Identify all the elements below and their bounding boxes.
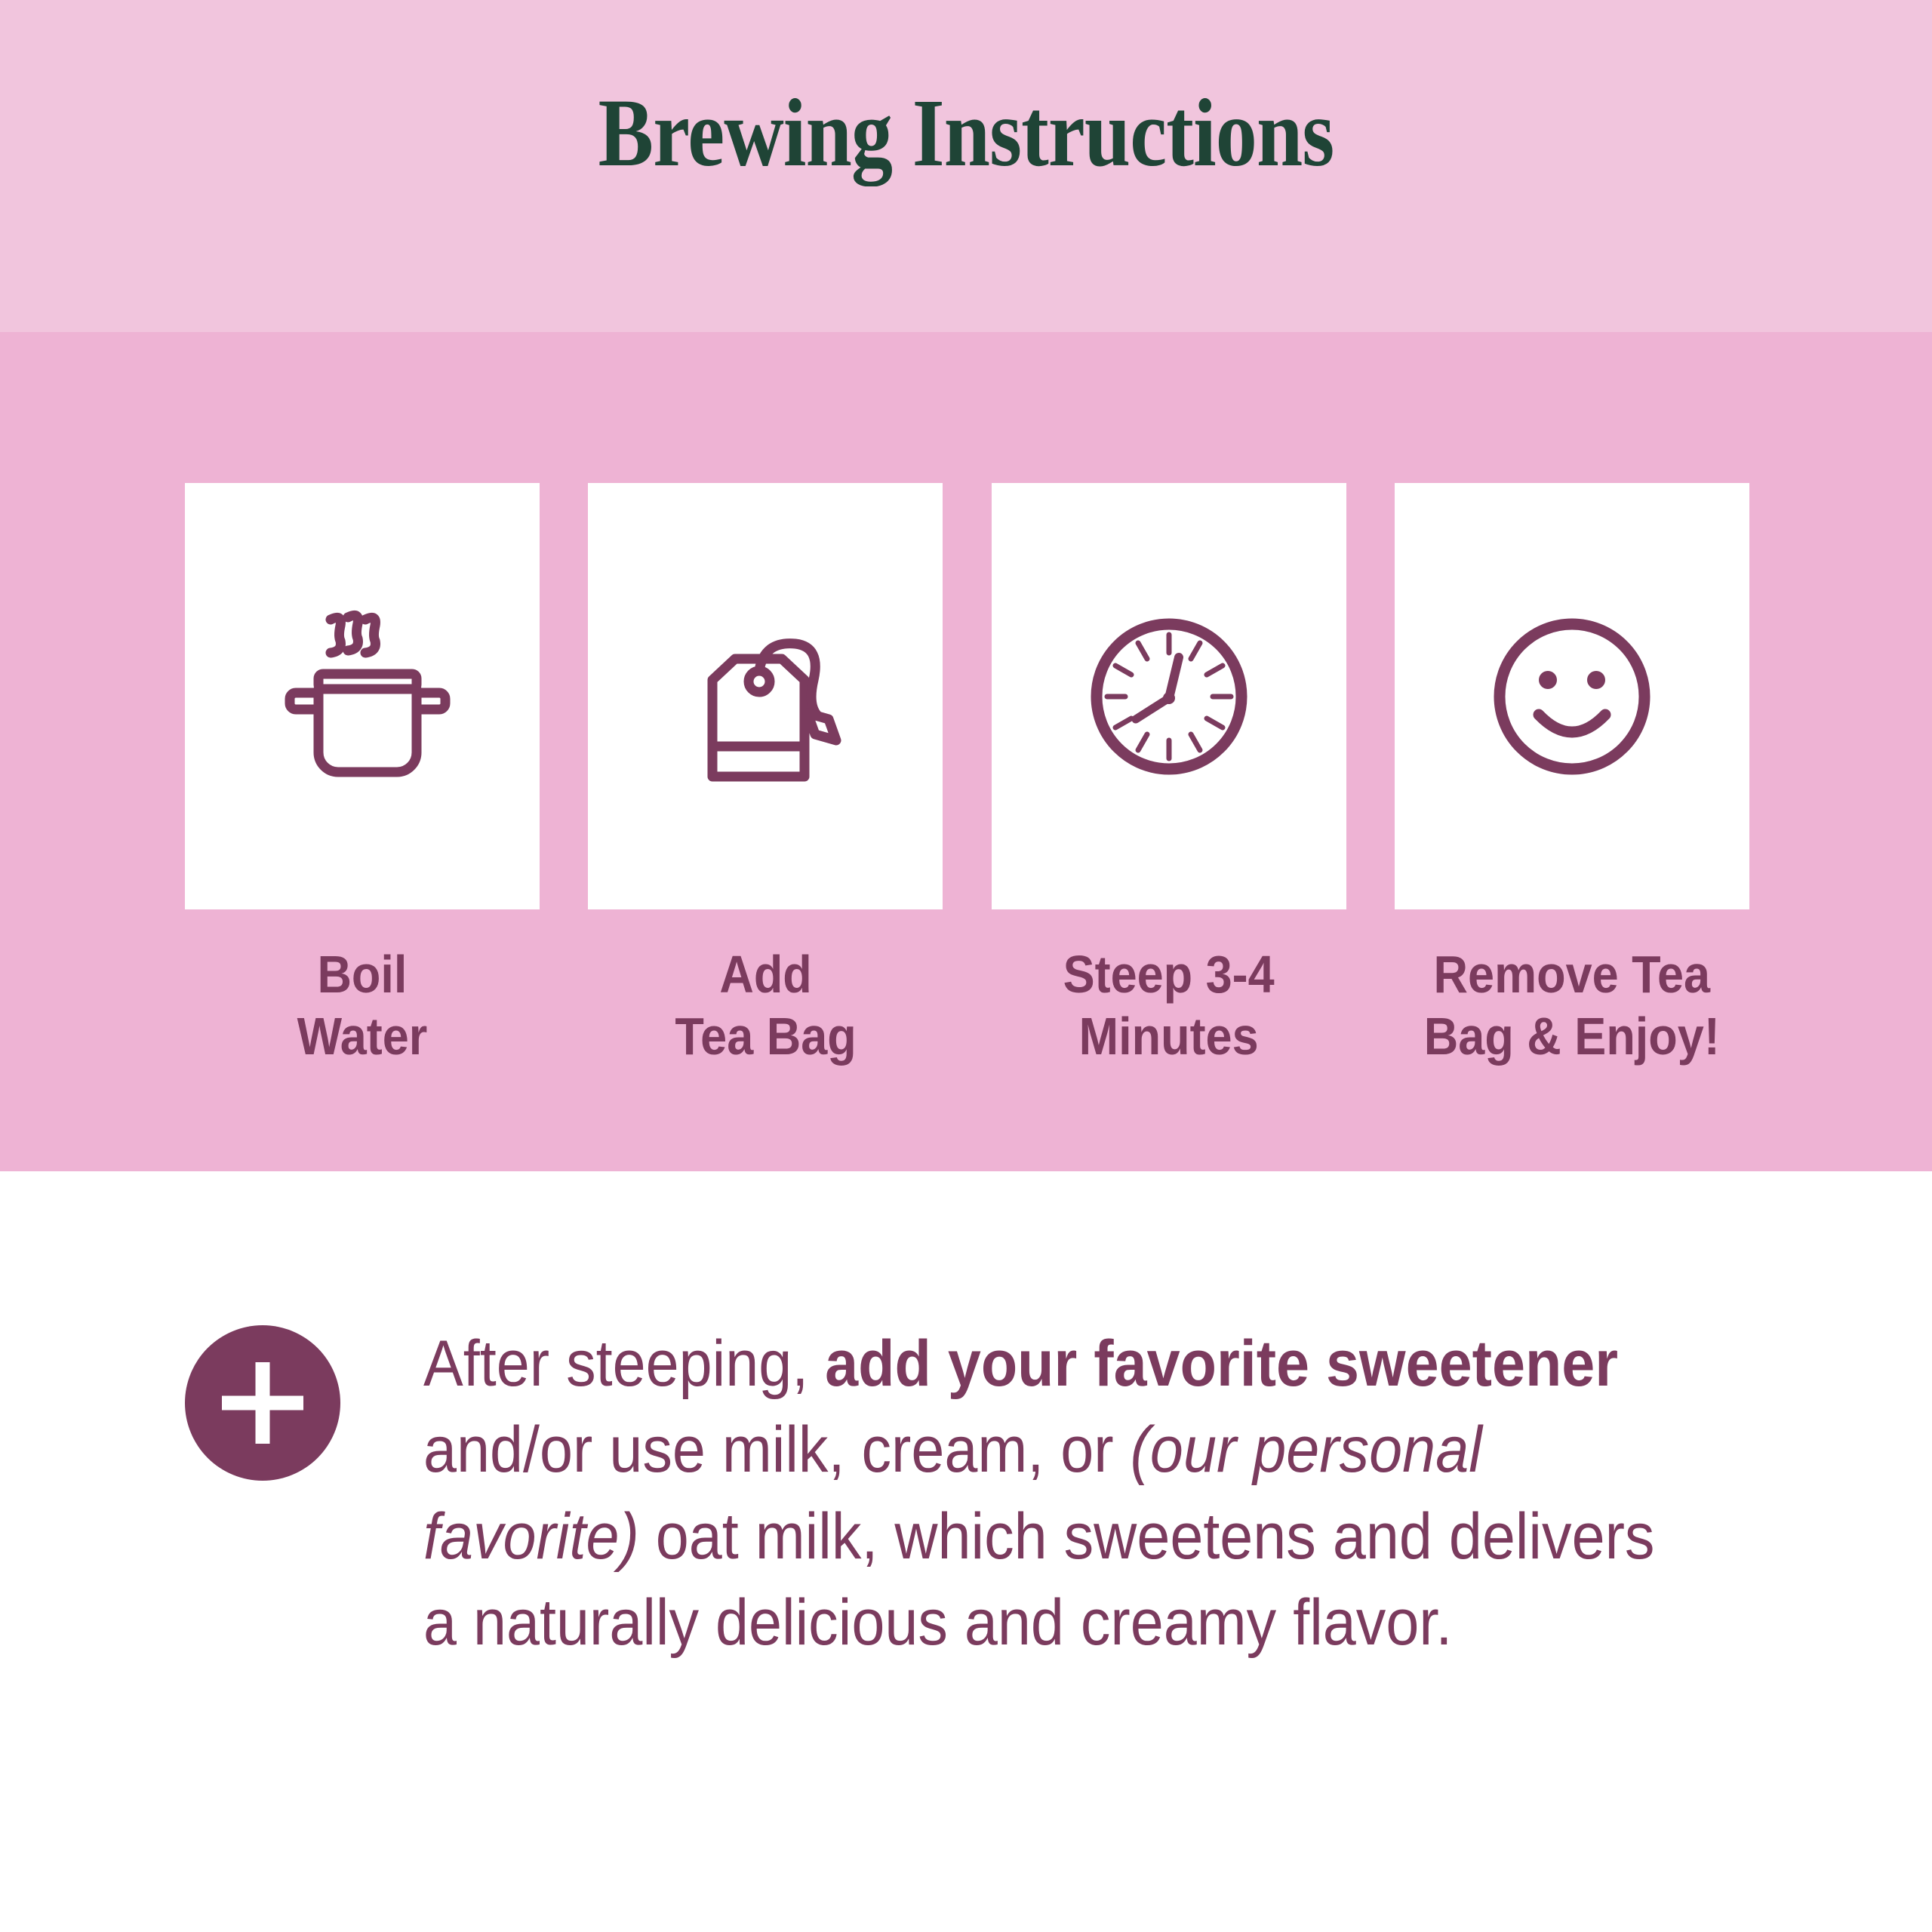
note-row: After steeping, add your favorite sweete… — [185, 1321, 1785, 1666]
step-card-3 — [992, 483, 1346, 909]
steps-band: Boil Water — [0, 332, 1932, 1171]
note-section: After steeping, add your favorite sweete… — [0, 1171, 1932, 1932]
step-card-4 — [1395, 483, 1749, 909]
step-boil-water: Boil Water — [185, 483, 540, 1068]
step-card-1 — [185, 483, 540, 909]
note-text: After steeping, add your favorite sweete… — [423, 1321, 1673, 1666]
steps-row: Boil Water — [185, 483, 1749, 1068]
tea-bag-icon — [652, 583, 878, 810]
step-add-tea-bag: Add Tea Bag — [588, 483, 943, 1068]
boiling-pot-icon — [249, 583, 475, 810]
plus-icon-vertical-bar — [256, 1362, 270, 1444]
header-band: Brewing Instructions — [0, 0, 1932, 332]
note-text-segment: and/or use milk, cream, or — [423, 1414, 1131, 1486]
step-steep-minutes: Steep 3-4 Minutes — [992, 483, 1346, 1068]
step-card-2 — [588, 483, 943, 909]
smiley-face-icon — [1459, 583, 1685, 810]
step-label-4: Remove Tea Bag & Enjoy! — [1424, 944, 1720, 1068]
step-remove-enjoy: Remove Tea Bag & Enjoy! — [1395, 483, 1749, 1068]
brewing-instructions-page: Brewing Instructions — [0, 0, 1932, 1932]
step-label-2: Add Tea Bag — [675, 944, 856, 1068]
step-label-1: Boil Water — [297, 944, 428, 1068]
clock-icon — [1056, 583, 1282, 810]
page-title: Brewing Instructions — [135, 85, 1797, 181]
plus-icon — [185, 1325, 340, 1481]
step-label-3: Steep 3-4 Minutes — [1063, 944, 1275, 1068]
note-text-bold: add your favorite sweetener — [825, 1327, 1618, 1400]
note-text-segment: After steeping, — [423, 1327, 825, 1400]
